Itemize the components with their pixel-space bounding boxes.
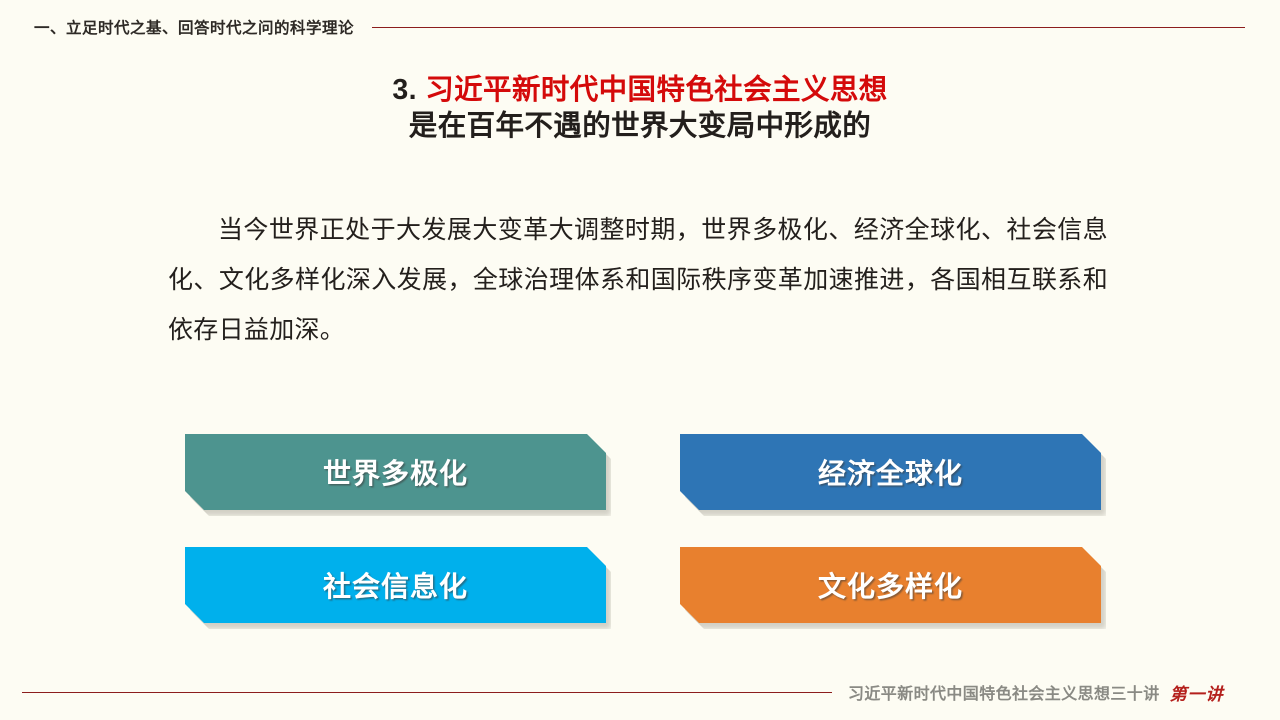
title-line-2: 是在百年不遇的世界大变局中形成的 [0, 108, 1280, 144]
header-divider-rule [372, 27, 1245, 28]
keyword-box-label: 社会信息化 [323, 565, 468, 605]
page-title: 3. 习近平新时代中国特色社会主义思想 是在百年不遇的世界大变局中形成的 [0, 72, 1280, 145]
footer-lecture-badge: 第一讲 [1170, 680, 1224, 705]
title-highlight-text: 习近平新时代中国特色社会主义思想 [425, 74, 887, 106]
section-heading: 一、立足时代之基、回答时代之问的科学理论 [34, 16, 354, 38]
keyword-box-label: 经济全球化 [818, 452, 963, 492]
keyword-box-label: 文化多样化 [818, 565, 963, 605]
title-number: 3. [392, 74, 417, 106]
slide-footer: 习近平新时代中国特色社会主义思想三十讲 第一讲 [0, 677, 1280, 707]
footer-divider-rule [22, 692, 832, 693]
title-line-1: 3. 习近平新时代中国特色社会主义思想 [0, 72, 1280, 108]
footer-series-title: 习近平新时代中国特色社会主义思想三十讲 [848, 680, 1160, 704]
keyword-box-multipolarization[interactable]: 世界多极化 [185, 434, 606, 510]
body-paragraph: 当今世界正处于大发展大变革大调整时期，世界多极化、经济全球化、社会信息化、文化多… [168, 205, 1108, 355]
keyword-box-cultural-diversity[interactable]: 文化多样化 [680, 547, 1101, 623]
keyword-box-globalization[interactable]: 经济全球化 [680, 434, 1101, 510]
keyword-box-label: 世界多极化 [323, 452, 468, 492]
keyword-box-grid: 世界多极化 经济全球化 社会信息化 文化多样化 [185, 434, 1115, 634]
slide-header: 一、立足时代之基、回答时代之问的科学理论 [0, 14, 1280, 40]
keyword-box-informatization[interactable]: 社会信息化 [185, 547, 606, 623]
